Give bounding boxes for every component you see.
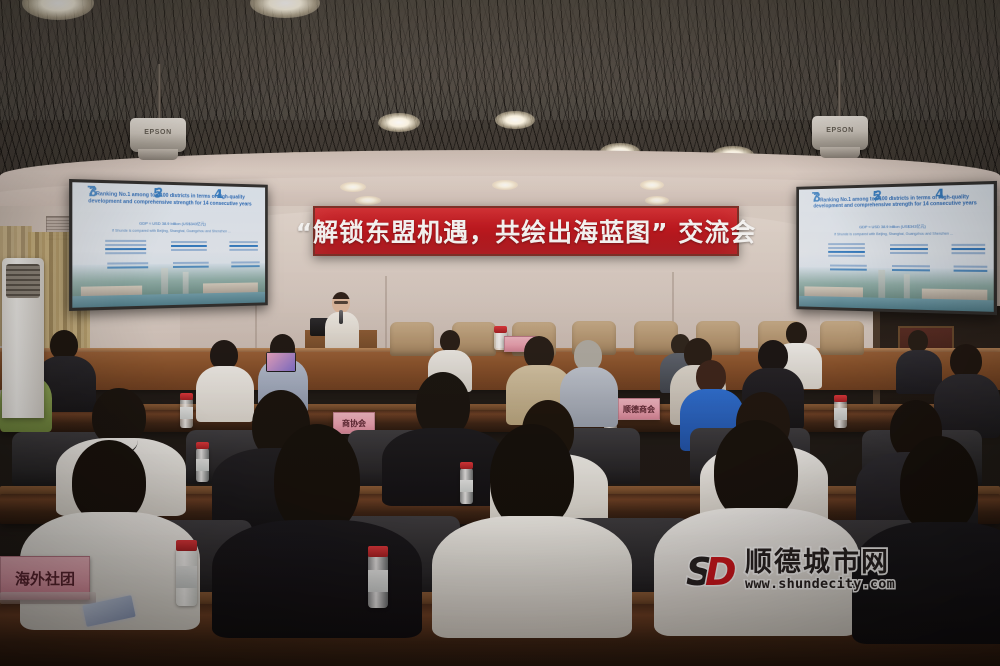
name-card-text: 海外社团 xyxy=(15,568,75,589)
projector-left: EPSON xyxy=(130,118,186,152)
recessed-light xyxy=(640,180,664,190)
watermark-url: www.shundecity.com xyxy=(745,578,895,592)
event-banner: “解锁东盟机遇，共绘出海蓝图” 交流会 xyxy=(313,206,739,256)
slide-tower xyxy=(878,269,885,301)
slide-rank-number: 2 xyxy=(156,185,163,200)
conference-hall-photo: EPSON EPSON Ranking No.1 among top 100 d… xyxy=(0,0,1000,666)
water-bottle xyxy=(176,548,197,606)
slide-subtitle: GDP ≈ USD 38.9 billion (US$343亿元) xyxy=(813,223,977,231)
slide-title: Ranking No.1 among top 100 districts in … xyxy=(85,191,255,208)
wall-seam xyxy=(385,276,387,356)
water-bottle xyxy=(368,554,388,608)
name-card-text: 顺德商会 xyxy=(623,404,655,415)
person-head xyxy=(440,330,460,352)
slide-subtitle: GDP ≈ USD 38.9 billion (US$343亿元) xyxy=(89,220,251,228)
bottle-cap xyxy=(834,395,847,402)
slide-rank-number: 3 xyxy=(813,189,820,205)
slide-bar-rows xyxy=(890,244,927,256)
head-table-chair xyxy=(820,321,864,355)
slide-bar-rows xyxy=(106,240,146,256)
bottle-cap xyxy=(494,326,507,333)
recessed-light xyxy=(340,182,366,192)
slide-bar-rows xyxy=(828,243,865,259)
projector-brand-label: EPSON xyxy=(812,127,868,134)
slide-note: If Shunde is compared with Beijing, Shan… xyxy=(813,232,977,237)
person-head xyxy=(908,330,928,352)
projector-mount-rod xyxy=(838,60,841,118)
microphone xyxy=(339,310,343,324)
slide-rank-number: 3 xyxy=(89,183,97,200)
floor-air-conditioner xyxy=(2,258,44,418)
audience-member xyxy=(654,420,860,630)
slide-title: Ranking No.1 among top 100 districts in … xyxy=(810,193,981,210)
person-head xyxy=(950,344,982,378)
recessed-light xyxy=(355,196,381,205)
audience-member xyxy=(212,424,422,624)
recessed-light xyxy=(645,196,669,205)
slide-bar-rows xyxy=(952,244,985,257)
slide-rank-group: 7 5 4 3 2 1 xyxy=(72,182,265,187)
slide-rank-group: 7 5 4 3 2 1 xyxy=(799,184,994,189)
slide-left: Ranking No.1 among top 100 districts in … xyxy=(72,182,265,308)
ceiling-downlight xyxy=(495,111,535,129)
slide-rank-number: 1 xyxy=(938,186,945,202)
slide-bar-rows xyxy=(171,241,207,253)
person-torso xyxy=(212,520,422,638)
slide-rank-number: 2 xyxy=(875,187,882,202)
logo-letter-d: D xyxy=(705,550,737,594)
speaker-presenter xyxy=(322,292,362,350)
projection-screen-left: Ranking No.1 among top 100 districts in … xyxy=(69,179,268,311)
projector-brand-label: EPSON xyxy=(130,129,186,136)
aircon-grill xyxy=(6,264,40,298)
audience-tablet xyxy=(266,352,296,372)
projection-screen-right: Ranking No.1 among top 100 districts in … xyxy=(796,181,997,315)
slide-cityscape-photo xyxy=(72,263,265,307)
shundecity-logo-icon: S D xyxy=(686,548,738,592)
event-banner-text: “解锁东盟机遇，共绘出海蓝图” 交流会 xyxy=(296,213,757,249)
site-watermark: S D 顺德城市网 www.shundecity.com xyxy=(686,548,895,592)
recessed-light xyxy=(492,180,518,190)
slide-tower xyxy=(161,268,168,298)
bottle-label xyxy=(176,566,197,588)
projector-mount-rod xyxy=(158,64,161,120)
name-card-mid-right: 顺德商会 xyxy=(618,398,660,420)
slide-right: Ranking No.1 among top 100 districts in … xyxy=(799,184,994,312)
slide-note: If Shunde is compared with Beijing, Shan… xyxy=(89,229,251,234)
watermark-site-name: 顺德城市网 xyxy=(745,549,895,576)
watermark-text-group: 顺德城市网 www.shundecity.com xyxy=(745,549,895,592)
bottle-label xyxy=(834,408,847,420)
bottle-cap xyxy=(368,546,388,557)
person-head xyxy=(714,420,798,522)
person-head xyxy=(490,424,574,530)
bottle-cap xyxy=(176,540,197,551)
bottle-label xyxy=(368,570,388,592)
projector-right: EPSON xyxy=(812,116,868,150)
slide-rank-number: 1 xyxy=(216,186,223,201)
audience-member xyxy=(852,436,1000,636)
speaker-glasses xyxy=(334,301,348,304)
tablet-screen xyxy=(267,353,295,371)
person-torso xyxy=(432,516,632,638)
audience-member xyxy=(432,424,632,628)
ceiling-downlight xyxy=(378,113,420,132)
slide-bar-rows xyxy=(229,241,258,253)
slide-cityscape-photo xyxy=(799,267,994,312)
person-head xyxy=(900,436,978,534)
name-card-holder xyxy=(0,592,96,604)
